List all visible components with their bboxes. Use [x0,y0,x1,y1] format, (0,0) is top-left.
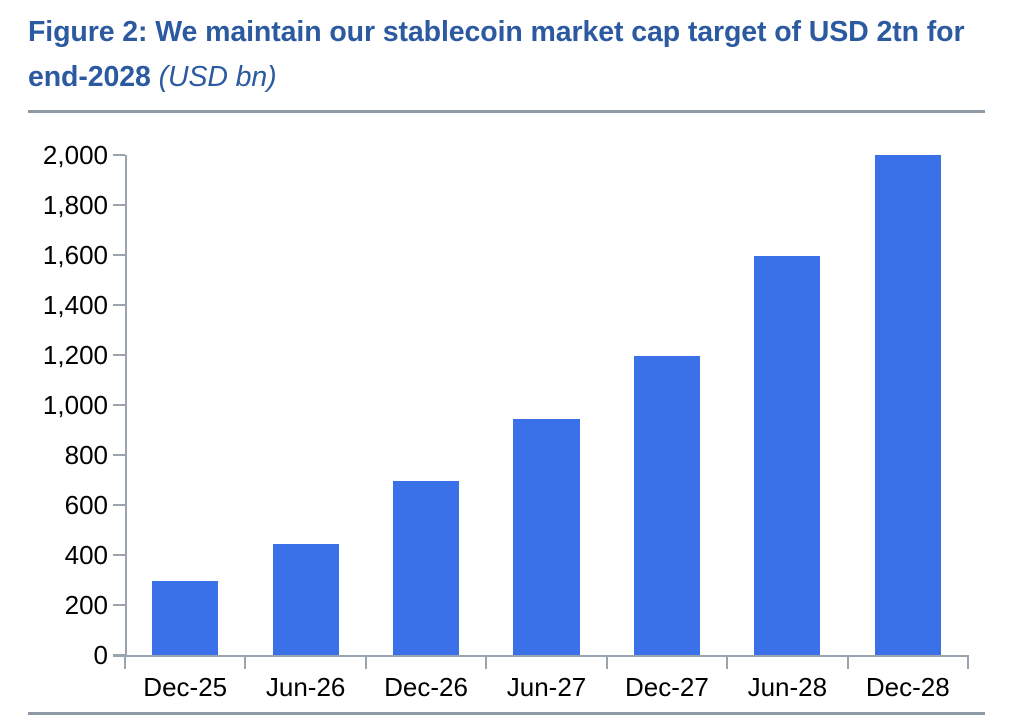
bar [393,481,459,655]
x-axis-tick [726,655,728,669]
y-axis-tick-label-wrap: 1,600 [5,242,108,268]
y-axis-tick-label: 1,600 [8,242,108,268]
bar [634,356,700,655]
y-axis-tick-label-wrap: 600 [5,492,108,518]
x-axis-tick-label: Jun-27 [486,672,606,702]
x-axis-tick [967,655,969,669]
y-axis-tick-label: 200 [8,592,108,618]
y-axis-tick-label: 0 [8,642,108,668]
x-axis-tick-label: Dec-26 [366,672,486,702]
bar [513,419,579,655]
x-axis-line [113,655,969,657]
y-axis-tick [113,404,125,406]
bar-chart: 02004006008001,0001,2001,4001,6001,8002,… [0,0,1009,728]
x-axis-tick [485,655,487,669]
bar [754,256,820,655]
y-axis-tick-label-wrap: 2,000 [5,142,108,168]
y-axis-tick [113,354,125,356]
bar [152,581,218,655]
y-axis-tick [113,454,125,456]
y-axis-tick-label: 1,000 [8,392,108,418]
plot-area [125,155,968,655]
bar [875,155,941,655]
y-axis-tick-label-wrap: 1,200 [5,342,108,368]
y-axis-tick-label: 2,000 [8,142,108,168]
x-axis-tick [244,655,246,669]
y-axis-tick-label: 1,800 [8,192,108,218]
y-axis-tick-label-wrap: 1,400 [5,292,108,318]
x-axis-tick-label: Dec-25 [125,672,245,702]
y-axis-tick [113,154,125,156]
y-axis-tick-label-wrap: 200 [5,592,108,618]
y-axis-tick [113,504,125,506]
x-axis-tick [847,655,849,669]
y-axis-tick-label: 400 [8,542,108,568]
x-axis-tick-label: Jun-28 [727,672,847,702]
y-axis-tick-label: 600 [8,492,108,518]
y-axis-tick [113,554,125,556]
y-axis-tick-label: 800 [8,442,108,468]
y-axis-tick-label-wrap: 400 [5,542,108,568]
x-axis-tick [124,655,126,669]
bar [273,544,339,655]
x-axis-tick-label: Jun-26 [245,672,365,702]
y-axis-tick-label-wrap: 800 [5,442,108,468]
y-axis-tick-label-wrap: 1,000 [5,392,108,418]
x-axis-tick-label: Dec-27 [607,672,727,702]
y-axis-tick-label-wrap: 0 [5,642,108,668]
y-axis-tick [113,204,125,206]
y-axis-tick [113,304,125,306]
x-axis-tick [365,655,367,669]
y-axis-tick [113,604,125,606]
y-axis-tick-label-wrap: 1,800 [5,192,108,218]
y-axis-tick-label: 1,400 [8,292,108,318]
x-axis-tick [606,655,608,669]
y-axis-tick [113,254,125,256]
x-axis-tick-label: Dec-28 [848,672,968,702]
y-axis-tick-label: 1,200 [8,342,108,368]
